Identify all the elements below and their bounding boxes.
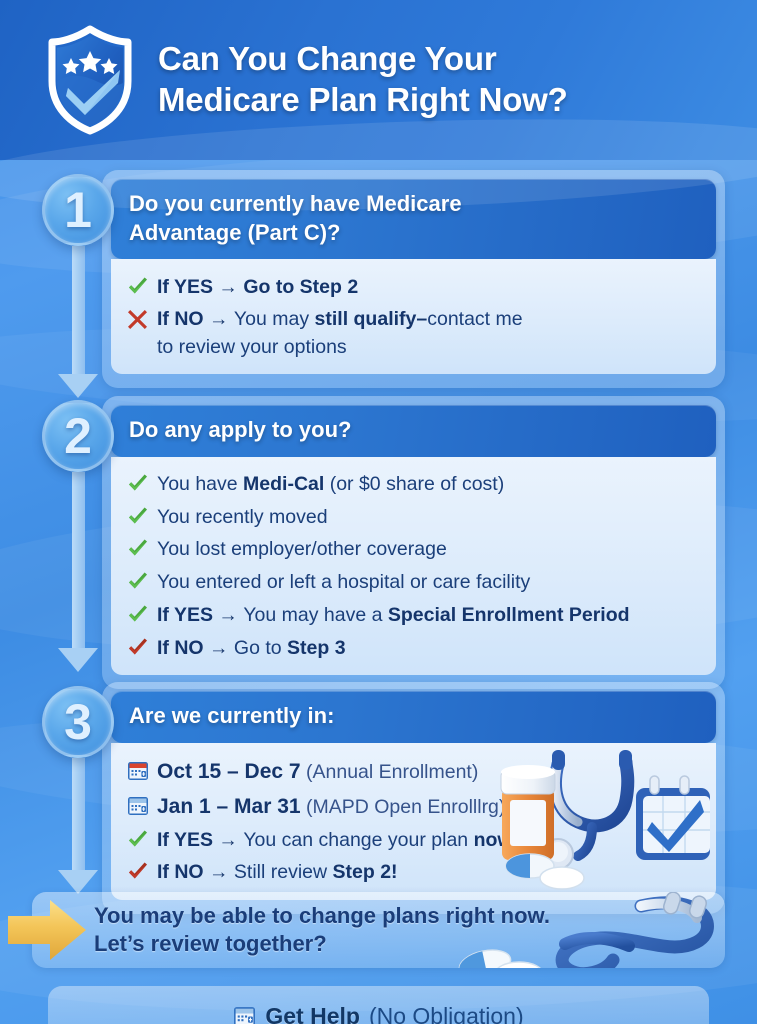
list-item: Oct 15 – Dec 7 (Annual Enrollment)	[127, 755, 700, 790]
cta-banner[interactable]: You may be able to change plans right no…	[32, 892, 725, 968]
red-check-icon	[127, 635, 157, 658]
calendar-blue-icon	[233, 1005, 256, 1024]
green-check-icon	[127, 569, 157, 592]
step-badge-2: 2	[42, 400, 114, 472]
list-item: Jan 1 – Mar 31 (MAPD Open Enrolllrg)	[127, 789, 700, 824]
step-badge-3: 3	[42, 686, 114, 758]
list-item-text: If NO → Go to Step 3	[157, 635, 700, 663]
list-item: If YES → Go to Step 2	[127, 271, 700, 304]
header-banner: Can You Change Your Medicare Plan Right …	[0, 0, 757, 160]
get-help-label: Get Help	[265, 1003, 360, 1024]
list-item-text: If YES → You can change your plan now	[157, 827, 700, 855]
connector-arrow-1	[66, 246, 90, 398]
list-item-text: If YES → Go to Step 2	[157, 274, 700, 302]
green-check-icon	[127, 602, 157, 625]
cta-line-2: Let’s review together?	[94, 930, 550, 958]
connector-arrow-2	[66, 472, 90, 672]
step-2-card: Do any apply to you? You have Medi-Cal (…	[102, 396, 725, 689]
list-item: If YES → You may have a Special Enrollme…	[127, 599, 700, 632]
title-line-2: Medicare Plan Right Now?	[158, 80, 568, 121]
red-x-icon	[127, 306, 157, 330]
list-item: If NO → Still review Step 2!	[127, 857, 700, 890]
step-3-heading: Are we currently in:	[111, 691, 716, 743]
green-check-icon	[127, 504, 157, 527]
list-item: You recently moved	[127, 501, 700, 534]
step-3-body: Oct 15 – Dec 7 (Annual Enrollment)	[111, 743, 716, 900]
list-item-text: You entered or left a hospital or care f…	[157, 569, 700, 597]
list-item-text: Jan 1 – Mar 31 (MAPD Open Enrolllrg)	[157, 792, 700, 822]
calendar-blue-icon	[127, 792, 157, 816]
list-item: If NO → Go to Step 3	[127, 632, 700, 665]
gold-right-arrow-icon	[8, 892, 88, 968]
list-item-text: If NO → You may still qualify–contact me…	[157, 306, 700, 361]
get-help-footer[interactable]: Get Help (No Obligation)	[48, 986, 709, 1024]
list-item-text: If NO → Still review Step 2!	[157, 859, 700, 887]
step-2-heading: Do any apply to you?	[111, 405, 716, 457]
list-item: You lost employer/other coverage	[127, 534, 700, 567]
green-check-icon	[127, 471, 157, 494]
no-obligation-label: (No Obligation)	[369, 1003, 524, 1024]
list-item-text: If YES → You may have a Special Enrollme…	[157, 602, 700, 630]
list-item: You have Medi-Cal (or $0 share of cost)	[127, 469, 700, 502]
list-item: If YES → You can change your plan now	[127, 824, 700, 857]
step-2-body: You have Medi-Cal (or $0 share of cost) …	[111, 457, 716, 675]
cta-line-1: You may be able to change plans right no…	[94, 902, 550, 930]
green-check-icon	[127, 274, 157, 297]
list-item-text: You recently moved	[157, 504, 700, 532]
step-badge-1: 1	[42, 174, 114, 246]
infographic-page: Can You Change Your Medicare Plan Right …	[0, 0, 757, 1024]
step-1-body: If YES → Go to Step 2 If NO → You may st…	[111, 259, 716, 374]
red-check-icon	[127, 859, 157, 882]
cta-text: You may be able to change plans right no…	[94, 902, 550, 958]
title-line-1: Can You Change Your	[158, 39, 568, 80]
green-check-icon	[127, 827, 157, 850]
calendar-red-icon	[127, 757, 157, 781]
green-check-icon	[127, 536, 157, 559]
list-item-text: You lost employer/other coverage	[157, 536, 700, 564]
step-3-card: Are we currently in:	[102, 682, 725, 914]
list-item: You entered or left a hospital or care f…	[127, 567, 700, 600]
list-item-text: Oct 15 – Dec 7 (Annual Enrollment)	[157, 757, 700, 787]
page-title: Can You Change Your Medicare Plan Right …	[158, 39, 568, 121]
list-item: If NO → You may still qualify–contact me…	[127, 304, 700, 364]
shield-check-stars-icon	[44, 25, 136, 135]
list-item-text: You have Medi-Cal (or $0 share of cost)	[157, 471, 700, 499]
connector-arrow-3	[66, 758, 90, 894]
